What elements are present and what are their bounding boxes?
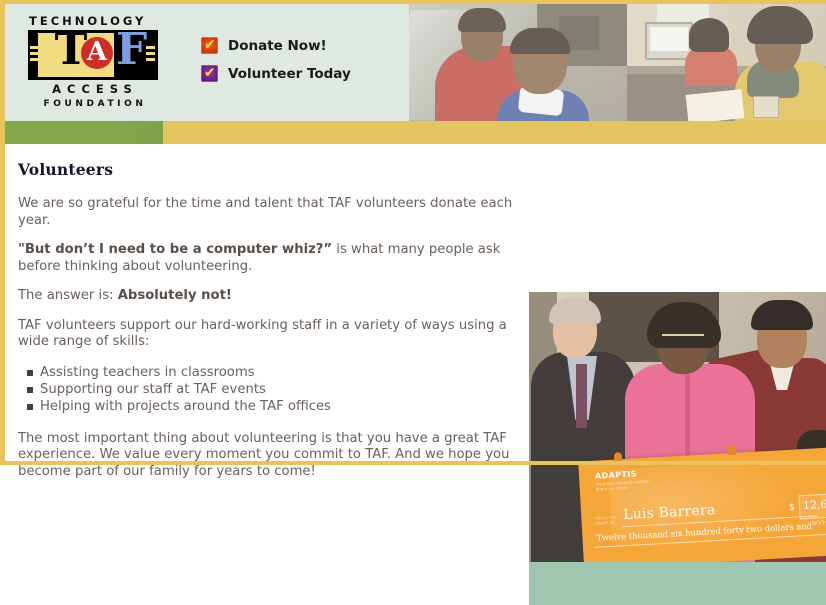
logo-bar-3 bbox=[30, 58, 40, 61]
list-item: Supporting our staff at TAF events bbox=[40, 381, 513, 398]
paragraph-closing: The most important thing about volunteer… bbox=[18, 431, 513, 481]
site-header: TECHNOLOGY T A F ACCESS FOUNDATION bbox=[5, 4, 826, 121]
paragraph-answer-emphasis: Absolutely not! bbox=[118, 288, 232, 303]
photo-tint-overlay bbox=[529, 292, 826, 562]
paragraph-intro-text: We are so grateful for the time and tale… bbox=[18, 196, 512, 228]
header-actions: ✔ Donate Now! ✔ Volunteer Today bbox=[201, 37, 351, 93]
logo-letter-f: F bbox=[116, 29, 150, 73]
donate-now-label: Donate Now! bbox=[228, 38, 327, 54]
logo-letter-a: A bbox=[81, 36, 113, 68]
volunteer-today-link[interactable]: ✔ Volunteer Today bbox=[201, 65, 351, 82]
side-photo-check-presentation: ADAPTIS We make outcome matter—that’s ou… bbox=[529, 292, 826, 562]
header-photo-mentor bbox=[409, 4, 627, 121]
bottom-gold-rule bbox=[5, 461, 826, 465]
site-logo[interactable]: TECHNOLOGY T A F ACCESS FOUNDATION bbox=[23, 14, 163, 114]
check-glyph: ✔ bbox=[204, 38, 216, 53]
accent-band-green bbox=[5, 121, 163, 144]
paragraph-answer: The answer is: Absolutely not! bbox=[18, 288, 513, 305]
logo-bar-1 bbox=[30, 46, 40, 49]
donate-now-link[interactable]: ✔ Donate Now! bbox=[201, 37, 351, 54]
list-item: Assisting teachers in classrooms bbox=[40, 364, 513, 381]
photo-tint-overlay bbox=[627, 4, 826, 121]
accent-band-gold bbox=[5, 121, 826, 144]
check-glyph: ✔ bbox=[204, 66, 216, 81]
checkbox-checked-icon-donate[interactable]: ✔ bbox=[201, 37, 218, 54]
skills-list: Assisting teachers in classrooms Support… bbox=[18, 364, 513, 415]
header-photo-classroom bbox=[627, 4, 826, 121]
teal-filler-block bbox=[529, 562, 826, 605]
logo-bar-2 bbox=[30, 52, 40, 55]
paragraph-question-emphasis: "But don’t I need to be a computer whiz?… bbox=[18, 242, 332, 257]
page-root: TECHNOLOGY T A F ACCESS FOUNDATION bbox=[0, 0, 826, 465]
photo-tint-overlay bbox=[409, 4, 627, 121]
content-copy: Volunteers We are so grateful for the ti… bbox=[18, 160, 513, 493]
list-item: Helping with projects around the TAF off… bbox=[40, 398, 513, 415]
paragraph-intro: We are so grateful for the time and tale… bbox=[18, 196, 513, 229]
paragraph-support-text: TAF volunteers support our hard-working … bbox=[18, 318, 507, 350]
logo-text-foundation: FOUNDATION bbox=[27, 99, 163, 109]
paragraph-question: "But don’t I need to be a computer whiz?… bbox=[18, 242, 513, 275]
page-title: Volunteers bbox=[18, 160, 513, 179]
logo-text-access: ACCESS bbox=[29, 82, 161, 96]
paragraph-answer-lead: The answer is: bbox=[18, 288, 118, 303]
volunteer-today-label: Volunteer Today bbox=[228, 66, 351, 82]
logo-mark: T A F bbox=[28, 30, 158, 80]
header-left-panel: TECHNOLOGY T A F ACCESS FOUNDATION bbox=[5, 4, 404, 121]
paragraph-support: TAF volunteers support our hard-working … bbox=[18, 318, 513, 351]
checkbox-checked-icon-volunteer[interactable]: ✔ bbox=[201, 65, 218, 82]
header-photo-strip bbox=[409, 4, 826, 121]
main-content: Volunteers We are so grateful for the ti… bbox=[5, 144, 826, 465]
